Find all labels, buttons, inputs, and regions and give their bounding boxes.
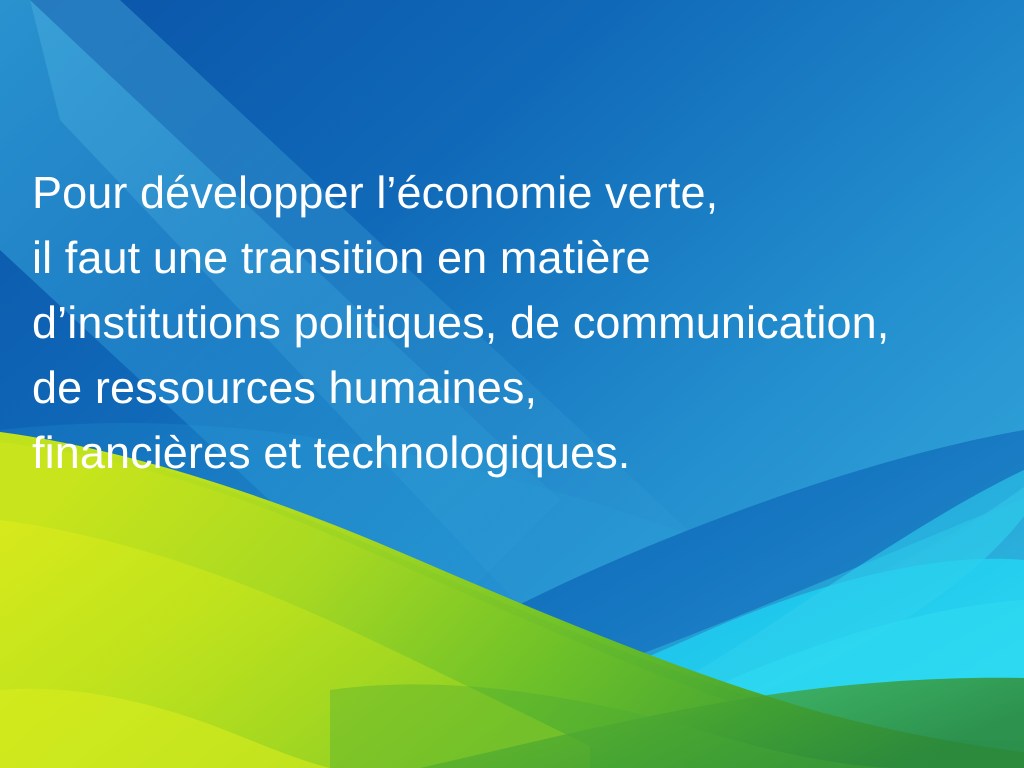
slide-body-text: Pour développer l’économie verte, il fau…	[32, 160, 1024, 485]
body-line-5: financières et technologiques.	[32, 420, 1024, 485]
body-line-3: d’institutions politiques, de communicat…	[32, 290, 1024, 355]
presentation-slide: Pour développer l’économie verte, il fau…	[0, 0, 1024, 768]
body-line-1: Pour développer l’économie verte,	[32, 160, 1024, 225]
body-line-2: il faut une transition en matière	[32, 225, 1024, 290]
body-line-4: de ressources humaines,	[32, 355, 1024, 420]
